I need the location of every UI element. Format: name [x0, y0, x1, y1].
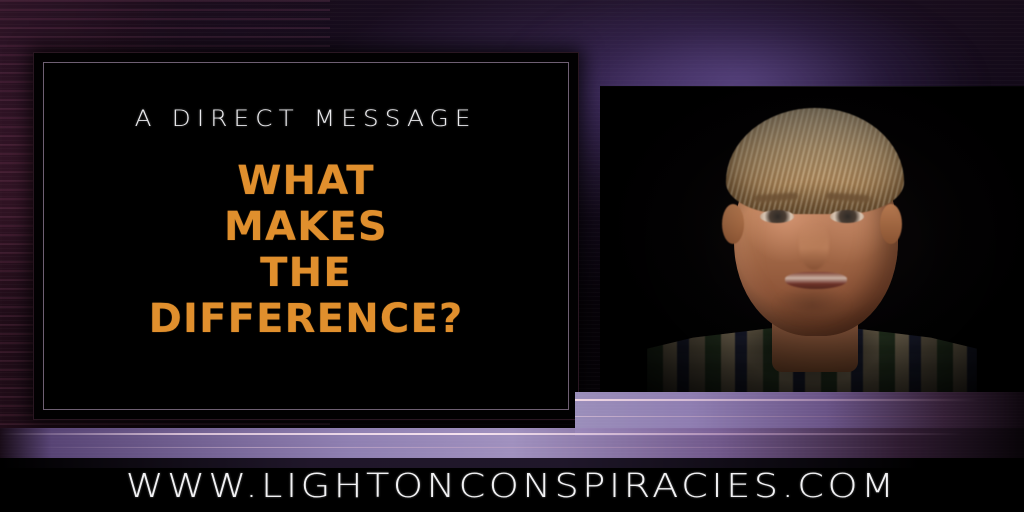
footer-website-url: WWW.LIGHTONCONSPIRACIES.COM	[126, 466, 898, 505]
accent-band-main-highlight-secondary	[0, 447, 1024, 448]
video-vignette	[600, 86, 1024, 393]
slide-kicker: A DIRECT MESSAGE	[135, 107, 477, 132]
headline-line-2: MAKES	[149, 204, 464, 250]
accent-band-right-highlight	[575, 399, 1024, 401]
slide-headline: WHAT MAKES THE DIFFERENCE?	[149, 158, 464, 342]
video-frame: A DIRECT MESSAGE WHAT MAKES THE DIFFEREN…	[0, 0, 1024, 512]
headline-line-4: DIFFERENCE?	[149, 296, 464, 342]
slide-panel-inner-border: A DIRECT MESSAGE WHAT MAKES THE DIFFEREN…	[43, 62, 569, 410]
video-panel	[600, 86, 1024, 393]
accent-band-right-highlight-secondary	[575, 416, 1024, 417]
slide-content: A DIRECT MESSAGE WHAT MAKES THE DIFFEREN…	[44, 63, 568, 409]
accent-band-main-highlight	[0, 433, 1024, 435]
footer-bar: WWW.LIGHTONCONSPIRACIES.COM	[0, 458, 1024, 512]
slide-panel: A DIRECT MESSAGE WHAT MAKES THE DIFFEREN…	[33, 52, 579, 420]
headline-line-1: WHAT	[149, 158, 464, 204]
headline-line-3: THE	[149, 250, 464, 296]
